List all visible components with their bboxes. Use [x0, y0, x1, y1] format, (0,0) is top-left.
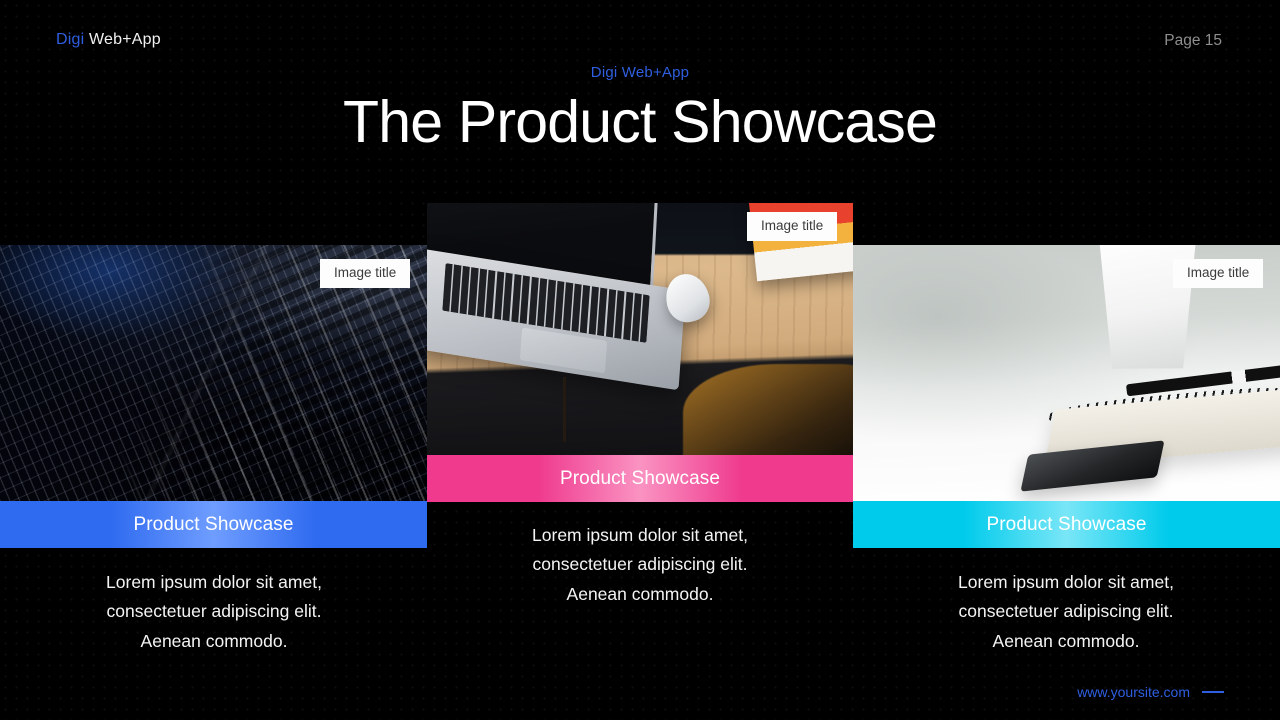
card-right-label-bar: Product Showcase	[853, 501, 1280, 548]
card-left-bar-label: Product Showcase	[133, 514, 293, 536]
card-center-caption: Lorem ipsum dolor sit amet, consectetuer…	[460, 521, 820, 609]
card-left-caption-line-1: Lorem ipsum dolor sit amet,	[34, 568, 394, 597]
phone-shape	[1020, 440, 1164, 491]
slide-canvas: Digi Web+App Page 15 Digi Web+App The Pr…	[0, 0, 1280, 720]
card-center-caption-line-1: Lorem ipsum dolor sit amet,	[460, 521, 820, 550]
card-center-bar-label: Product Showcase	[560, 468, 720, 490]
card-right-bar-label: Product Showcase	[986, 514, 1146, 536]
card-center-label-bar: Product Showcase	[427, 455, 853, 502]
card-left-label-bar: Product Showcase	[0, 501, 427, 548]
footer: www.yoursite.com	[1077, 684, 1224, 700]
chair-shape	[683, 364, 853, 455]
desk-drawer-seam	[563, 377, 566, 443]
footer-rule-line	[1202, 691, 1224, 693]
brand-accent-text: Digi	[56, 31, 84, 48]
card-left-caption-line-3: Aenean commodo.	[34, 627, 394, 656]
page-number: Page 15	[1164, 32, 1222, 50]
eyebrow-text: Digi Web+App	[0, 64, 1280, 81]
card-right-image-title-badge: Image title	[1173, 259, 1263, 288]
card-left-image-title-badge: Image title	[320, 259, 410, 288]
card-right-caption: Lorem ipsum dolor sit amet, consectetuer…	[886, 568, 1246, 656]
card-right-caption-line-1: Lorem ipsum dolor sit amet,	[886, 568, 1246, 597]
brand-rest-text: Web+App	[84, 31, 160, 48]
card-right-caption-line-3: Aenean commodo.	[886, 627, 1246, 656]
card-center-image	[427, 203, 853, 455]
card-center-caption-line-2: consectetuer adipiscing elit.	[460, 550, 820, 579]
footer-website-link[interactable]: www.yoursite.com	[1077, 684, 1190, 700]
card-left-caption-line-2: consectetuer adipiscing elit.	[34, 597, 394, 626]
card-right-caption-line-2: consectetuer adipiscing elit.	[886, 597, 1246, 626]
page-title: The Product Showcase	[0, 91, 1280, 155]
card-center-caption-line-3: Aenean commodo.	[460, 580, 820, 609]
card-left-caption: Lorem ipsum dolor sit amet, consectetuer…	[34, 568, 394, 656]
brand-logo: Digi Web+App	[56, 31, 161, 49]
card-center-image-title-badge: Image title	[747, 212, 837, 241]
